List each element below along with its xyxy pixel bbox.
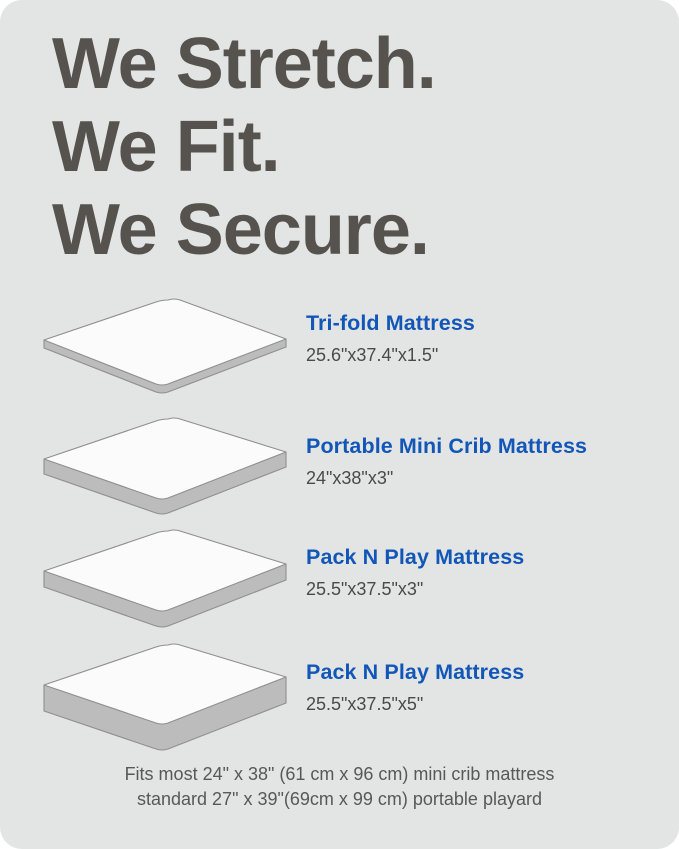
product-info-panel: We Stretch. We Fit. We Secure. Tri-fold … [0,0,679,849]
mattress-isometric-icon [36,527,296,642]
headline-line-3: We Secure. [52,189,652,272]
mattress-isometric-icon [36,643,296,758]
compatibility-note-line-1: Fits most 24" x 38" (61 cm x 96 cm) mini… [0,762,679,787]
product-name: Tri-fold Mattress [306,310,671,336]
compatibility-note-line-2: standard 27" x 39"(69cm x 99 cm) portabl… [0,787,679,812]
product-dimensions: 25.6"x37.4"x1.5" [306,343,671,367]
list-item: Portable Mini Crib Mattress 24"x38"x3" [0,407,679,522]
product-text: Tri-fold Mattress 25.6"x37.4"x1.5" [306,310,671,367]
product-text: Portable Mini Crib Mattress 24"x38"x3" [306,433,671,490]
headline-line-1: We Stretch. [52,23,652,106]
list-item: Tri-fold Mattress 25.6"x37.4"x1.5" [0,292,679,407]
product-list: Tri-fold Mattress 25.6"x37.4"x1.5" Porta… [0,292,679,752]
list-item: Pack N Play Mattress 25.5"x37.5"x3" [0,522,679,637]
list-item: Pack N Play Mattress 25.5"x37.5"x5" [0,637,679,752]
headline-line-2: We Fit. [52,106,652,189]
product-text: Pack N Play Mattress 25.5"x37.5"x3" [306,544,671,601]
product-dimensions: 24"x38"x3" [306,466,671,490]
product-dimensions: 25.5"x37.5"x3" [306,577,671,601]
product-name: Pack N Play Mattress [306,659,671,685]
product-name: Portable Mini Crib Mattress [306,433,671,459]
product-dimensions: 25.5"x37.5"x5" [306,692,671,716]
compatibility-note: Fits most 24" x 38" (61 cm x 96 cm) mini… [0,762,679,812]
headline-block: We Stretch. We Fit. We Secure. [52,23,652,272]
mattress-isometric-icon [36,292,296,407]
mattress-isometric-icon [36,415,296,530]
product-name: Pack N Play Mattress [306,544,671,570]
product-text: Pack N Play Mattress 25.5"x37.5"x5" [306,659,671,716]
